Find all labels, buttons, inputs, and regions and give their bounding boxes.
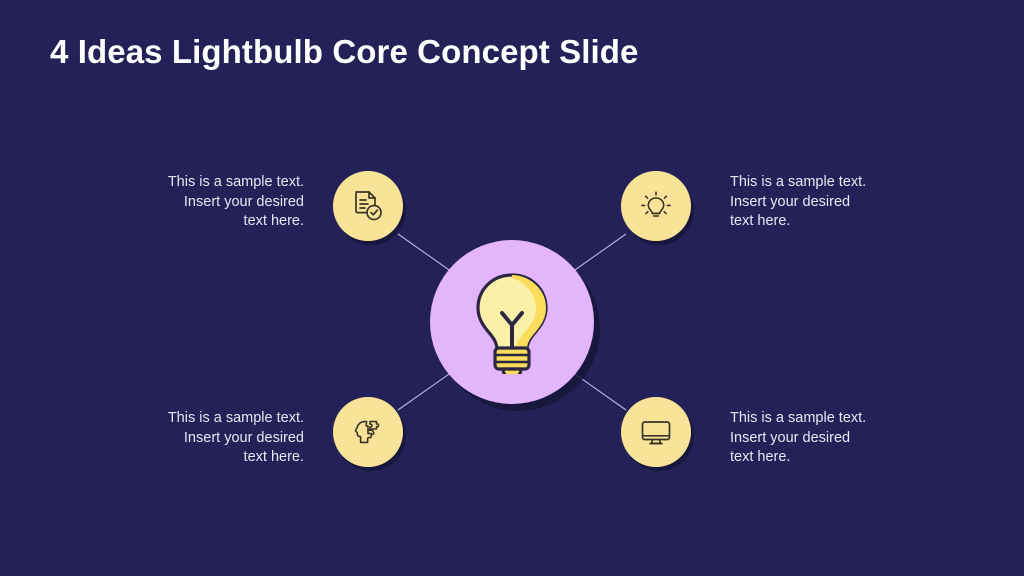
- caption-line: text here.: [730, 448, 910, 468]
- page-title: 4 Ideas Lightbulb Core Concept Slide: [50, 33, 639, 71]
- node-disc: [621, 171, 691, 241]
- caption-line: This is a sample text.: [730, 173, 910, 193]
- node-bottom-left[interactable]: [333, 397, 403, 467]
- head-puzzle-icon: [351, 415, 385, 449]
- center-disc: [430, 240, 594, 404]
- desktop-monitor-icon: [639, 415, 673, 449]
- lightbulb-icon: [469, 270, 555, 374]
- caption-top-left: This is a sample text. Insert your desir…: [124, 173, 304, 232]
- caption-bottom-left: This is a sample text. Insert your desir…: [124, 409, 304, 468]
- node-disc: [621, 397, 691, 467]
- node-top-right[interactable]: [621, 171, 691, 241]
- caption-line: Insert your desired: [124, 429, 304, 449]
- document-check-icon: [351, 189, 385, 223]
- caption-bottom-right: This is a sample text. Insert your desir…: [730, 409, 910, 468]
- idea-bulb-rays-icon: [639, 189, 673, 223]
- caption-line: Insert your desired: [730, 429, 910, 449]
- node-bottom-right[interactable]: [621, 397, 691, 467]
- slide-canvas: 4 Ideas Lightbulb Core Concept Slide: [0, 0, 1024, 576]
- node-disc: [333, 397, 403, 467]
- caption-line: This is a sample text.: [124, 173, 304, 193]
- node-top-left[interactable]: [333, 171, 403, 241]
- caption-line: This is a sample text.: [124, 409, 304, 429]
- caption-line: text here.: [124, 212, 304, 232]
- caption-line: Insert your desired: [124, 193, 304, 213]
- caption-top-right: This is a sample text. Insert your desir…: [730, 173, 910, 232]
- caption-line: text here.: [124, 448, 304, 468]
- caption-line: This is a sample text.: [730, 409, 910, 429]
- caption-line: Insert your desired: [730, 193, 910, 213]
- center-concept-node[interactable]: [430, 240, 594, 404]
- caption-line: text here.: [730, 212, 910, 232]
- node-disc: [333, 171, 403, 241]
